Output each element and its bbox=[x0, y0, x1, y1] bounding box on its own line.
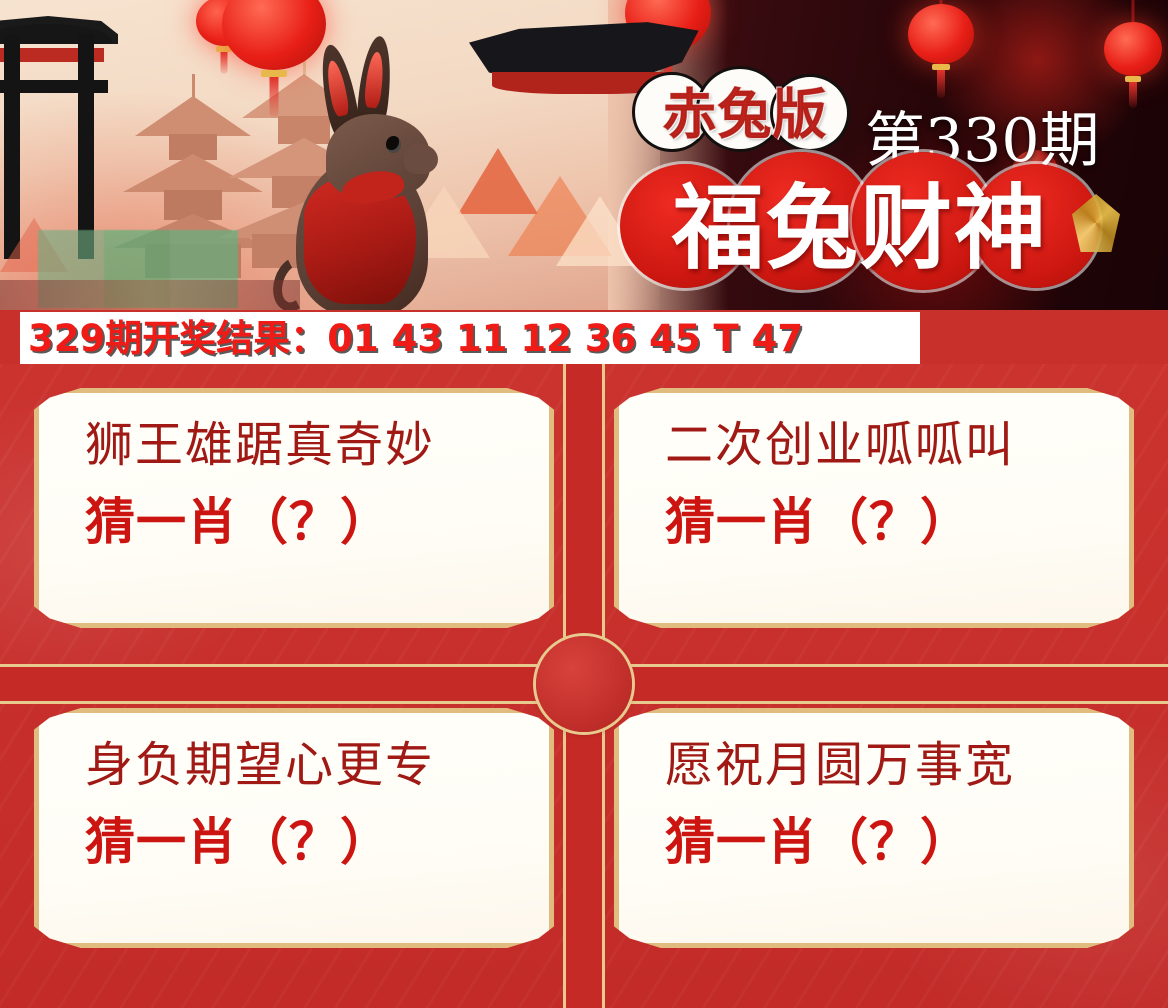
header-banner: 赤兔版 第330期 福兔财神 bbox=[0, 0, 1168, 310]
riddle-text: 二次创业呱呱叫 bbox=[665, 419, 1129, 473]
riddle-guess: 猜一肖（？） bbox=[85, 495, 549, 550]
draw-result-text: 329期开奖结果：01 43 11 12 36 45 T 47 bbox=[20, 320, 803, 357]
riddle-board: 狮王雄踞真奇妙 猜一肖（？） 二次创业呱呱叫 猜一肖（？） 身负期望心更专 猜一… bbox=[0, 364, 1168, 1008]
mosaic-censor-strip bbox=[0, 280, 300, 310]
lantern-icon bbox=[908, 4, 974, 66]
riddle-grid: 狮王雄踞真奇妙 猜一肖（？） 二次创业呱呱叫 猜一肖（？） 身负期望心更专 猜一… bbox=[0, 364, 1168, 1008]
rabbit-illustration bbox=[268, 48, 488, 310]
riddle-guess: 猜一肖（？） bbox=[85, 815, 549, 870]
lantern-icon bbox=[1104, 22, 1162, 78]
riddle-guess: 猜一肖（？） bbox=[665, 495, 1129, 550]
riddle-text: 愿祝月圆万事宽 bbox=[665, 739, 1129, 793]
draw-result-bar: 329期开奖结果：01 43 11 12 36 45 T 47 bbox=[20, 312, 920, 364]
riddle-card-3[interactable]: 身负期望心更专 猜一肖（？） bbox=[34, 708, 554, 948]
page-title: 福兔财神 bbox=[620, 150, 1100, 290]
rabbit-eye bbox=[386, 136, 401, 153]
rabbit-muzzle bbox=[404, 144, 438, 174]
riddle-text: 身负期望心更专 bbox=[85, 739, 549, 793]
riddle-card-4[interactable]: 愿祝月圆万事宽 猜一肖（？） bbox=[614, 708, 1134, 948]
title-plaque: 福兔财神 bbox=[620, 142, 1120, 292]
edition-badge-label: 赤兔版 bbox=[632, 66, 858, 152]
riddle-guess: 猜一肖（？） bbox=[665, 815, 1129, 870]
riddle-card-2[interactable]: 二次创业呱呱叫 猜一肖（？） bbox=[614, 388, 1134, 628]
riddle-card-1[interactable]: 狮王雄踞真奇妙 猜一肖（？） bbox=[34, 388, 554, 628]
poster-root: 赤兔版 第330期 福兔财神 329期开奖结果：01 43 11 12 36 4… bbox=[0, 0, 1168, 1008]
edition-badge: 赤兔版 bbox=[632, 66, 858, 152]
riddle-text: 狮王雄踞真奇妙 bbox=[85, 419, 549, 473]
